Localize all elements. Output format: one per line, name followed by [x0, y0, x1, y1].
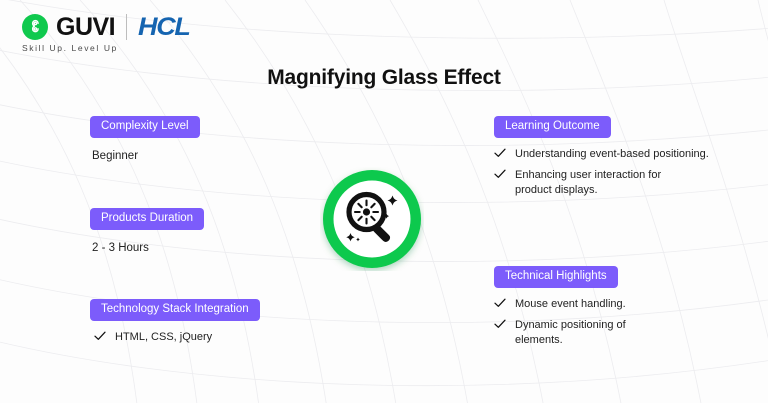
list-item: Mouse event handling.: [494, 297, 635, 313]
learning-outcome-badge: Learning Outcome: [494, 116, 611, 138]
products-duration-badge: Products Duration: [90, 208, 204, 230]
products-duration-block: Products Duration 2 - 3 Hours: [90, 208, 204, 256]
technology-stack-badge: Technology Stack Integration: [90, 299, 260, 321]
check-icon: [94, 331, 108, 346]
list-item-label: Dynamic positioning of elements.: [515, 318, 635, 348]
complexity-level-value: Beginner: [92, 149, 200, 165]
brand-tagline: Skill Up. Level Up: [22, 43, 118, 53]
learning-outcome-list: Understanding event-based positioning. E…: [494, 147, 709, 199]
list-item: Dynamic positioning of elements.: [494, 318, 635, 348]
list-item-label: Understanding event-based positioning.: [515, 147, 709, 162]
list-item: HTML, CSS, jQuery: [94, 330, 260, 346]
products-duration-value: 2 - 3 Hours: [92, 241, 204, 257]
complexity-level-badge: Complexity Level: [90, 116, 200, 138]
logo-divider: [126, 14, 127, 40]
complexity-level-block: Complexity Level Beginner: [90, 116, 200, 164]
page-title: Magnifying Glass Effect: [0, 66, 768, 90]
brand-logo-bar: GUVI HCL: [22, 14, 186, 40]
list-item: Understanding event-based positioning.: [494, 147, 709, 163]
check-icon: [494, 298, 508, 313]
magnifying-glass-icon: [320, 167, 424, 271]
technical-highlights-badge: Technical Highlights: [494, 266, 618, 288]
check-icon: [494, 319, 508, 334]
check-icon: [494, 148, 508, 163]
list-item-label: HTML, CSS, jQuery: [115, 330, 212, 345]
technical-highlights-block: Technical Highlights Mouse event handlin…: [494, 266, 635, 348]
slide-canvas: GUVI HCL Skill Up. Level Up Magnifying G…: [0, 0, 768, 403]
technology-stack-list: HTML, CSS, jQuery: [90, 330, 260, 346]
guvi-wordmark: GUVI: [56, 15, 115, 40]
technical-highlights-list: Mouse event handling. Dynamic positionin…: [494, 297, 635, 349]
list-item-label: Mouse event handling.: [515, 297, 626, 312]
guvi-g-logo-icon: [22, 14, 48, 40]
technology-stack-block: Technology Stack Integration HTML, CSS, …: [90, 299, 260, 345]
hcl-wordmark: HCL: [138, 15, 190, 40]
check-icon: [494, 169, 508, 184]
list-item-label: Enhancing user interaction for product d…: [515, 168, 685, 198]
list-item: Enhancing user interaction for product d…: [494, 168, 709, 198]
learning-outcome-block: Learning Outcome Understanding event-bas…: [494, 116, 709, 198]
